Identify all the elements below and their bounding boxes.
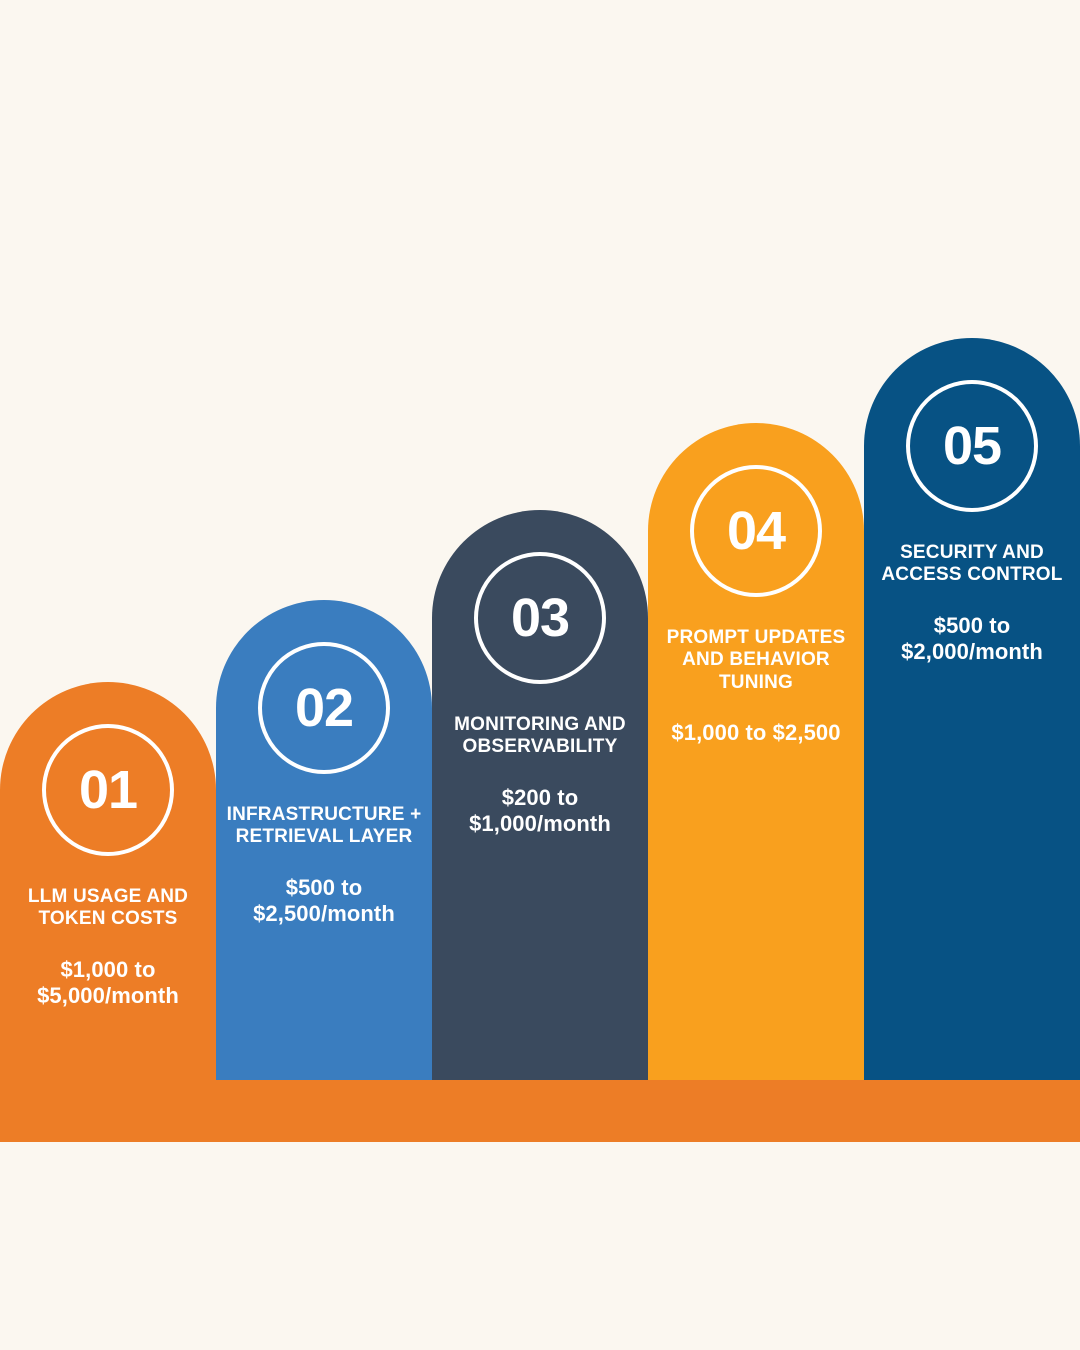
badge-ring-04: 04 bbox=[690, 465, 822, 597]
badge-ring-03: 03 bbox=[474, 552, 606, 684]
column-price-05: $500 to $2,000/month bbox=[868, 613, 1076, 666]
column-price-04: $1,000 to $2,500 bbox=[652, 720, 860, 746]
column-04[interactable]: 04 PROMPT UPDATES AND BEHAVIOR TUNING $1… bbox=[648, 423, 864, 1080]
badge-number-05: 05 bbox=[943, 419, 1001, 473]
badge-ring-02: 02 bbox=[258, 642, 390, 774]
column-03[interactable]: 03 MONITORING AND OBSERVABILITY $200 to … bbox=[432, 510, 648, 1080]
badge-number-04: 04 bbox=[727, 504, 785, 558]
column-02[interactable]: 02 INFRASTRUCTURE + RETRIEVAL LAYER $500… bbox=[216, 600, 432, 1080]
badge-number-02: 02 bbox=[295, 681, 353, 735]
badge-ring-05: 05 bbox=[906, 380, 1038, 512]
column-title-02: INFRASTRUCTURE + RETRIEVAL LAYER bbox=[224, 804, 424, 849]
column-title-05: SECURITY AND ACCESS CONTROL bbox=[872, 542, 1072, 587]
column-price-01: $1,000 to $5,000/month bbox=[4, 957, 212, 1010]
column-title-03: MONITORING AND OBSERVABILITY bbox=[440, 714, 640, 759]
column-group: 01 LLM USAGE AND TOKEN COSTS $1,000 to $… bbox=[0, 0, 1080, 1350]
badge-number-03: 03 bbox=[511, 591, 569, 645]
column-price-02: $500 to $2,500/month bbox=[220, 875, 428, 928]
column-title-04: PROMPT UPDATES AND BEHAVIOR TUNING bbox=[656, 627, 856, 694]
column-title-01: LLM USAGE AND TOKEN COSTS bbox=[8, 886, 208, 931]
badge-ring-01: 01 bbox=[42, 724, 174, 856]
badge-number-01: 01 bbox=[79, 763, 137, 817]
column-05[interactable]: 05 SECURITY AND ACCESS CONTROL $500 to $… bbox=[864, 338, 1080, 1080]
column-01[interactable]: 01 LLM USAGE AND TOKEN COSTS $1,000 to $… bbox=[0, 682, 216, 1080]
infographic-canvas: 01 LLM USAGE AND TOKEN COSTS $1,000 to $… bbox=[0, 0, 1080, 1350]
column-price-03: $200 to $1,000/month bbox=[436, 785, 644, 838]
